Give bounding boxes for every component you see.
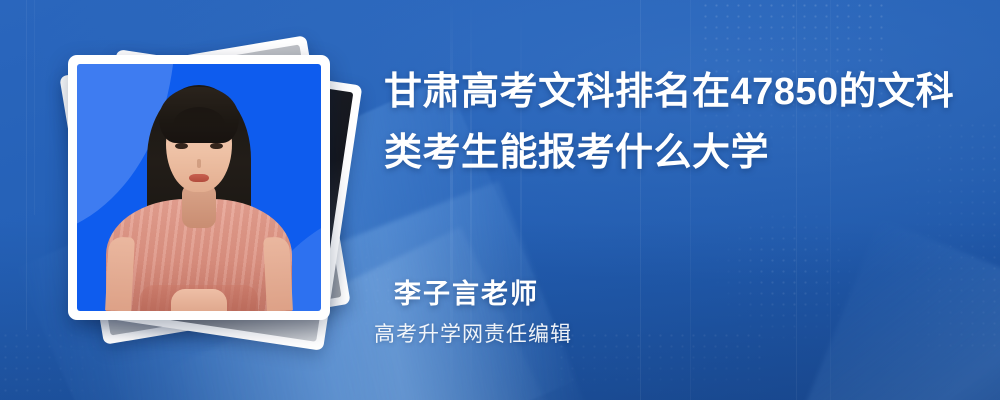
page-title-line-2: 类考生能报考什么大学 <box>384 123 964 184</box>
page-title-line-1: 甘肃高考文科排名在47850的文科 <box>384 62 964 123</box>
portrait-eye-left <box>175 143 188 149</box>
article-header-banner: 甘肃高考文科排名在47850的文科 类考生能报考什么大学 李子言老师 高考升学网… <box>0 0 1000 400</box>
author-portrait-photo <box>77 64 321 311</box>
portrait-lips <box>189 174 209 182</box>
portrait-nose <box>197 159 201 168</box>
portrait-figure <box>77 64 321 311</box>
portrait-hair-front <box>159 87 239 143</box>
author-photo-frame <box>68 55 330 320</box>
portrait-hands <box>171 289 227 311</box>
author-role: 高考升学网责任编辑 <box>374 318 572 348</box>
portrait-arm-right <box>263 236 293 311</box>
author-photo-stack <box>40 18 360 382</box>
portrait-arm-left <box>105 236 135 311</box>
author-name: 李子言老师 <box>394 272 539 311</box>
banner-text-block: 甘肃高考文科排名在47850的文科 类考生能报考什么大学 李子言老师 高考升学网… <box>384 0 984 400</box>
portrait-eye-right <box>210 143 223 149</box>
page-title: 甘肃高考文科排名在47850的文科 类考生能报考什么大学 <box>384 62 964 184</box>
